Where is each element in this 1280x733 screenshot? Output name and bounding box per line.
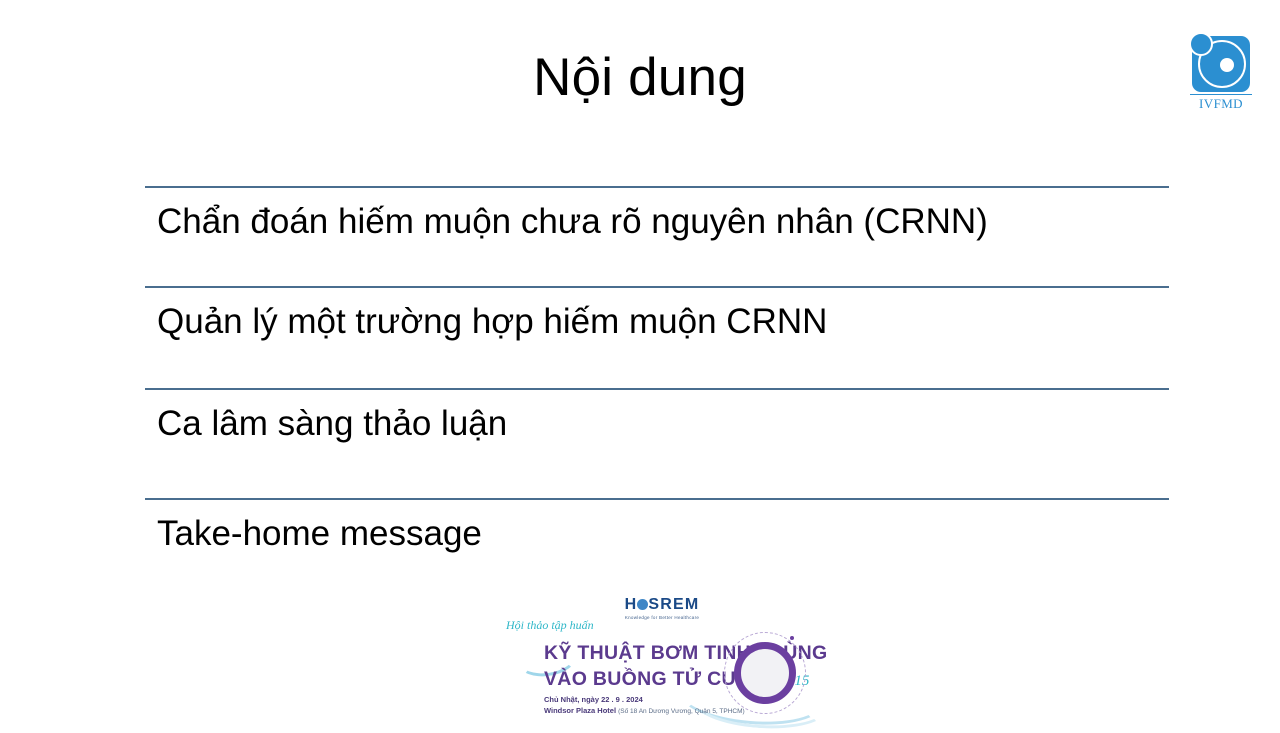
banner-kicker: Hội thảo tập huấn bbox=[506, 618, 594, 633]
agenda-list: Chẩn đoán hiếm muộn chưa rõ nguyên nhân … bbox=[145, 186, 1169, 572]
hosrem-wordmark: HSREM bbox=[602, 597, 722, 613]
ivfmd-logo: IVFMD bbox=[1188, 36, 1254, 112]
agenda-row: Take-home message bbox=[145, 498, 1169, 572]
agenda-row: Quản lý một trường hợp hiếm muộn CRNN bbox=[145, 286, 1169, 388]
ivfmd-small-circle-icon bbox=[1189, 32, 1213, 56]
event-banner: HSREM Knowledge for Better Healthcare Hộ… bbox=[466, 592, 846, 720]
ivfmd-wordmark: IVFMD bbox=[1188, 96, 1254, 112]
banner-venue: Windsor Plaza Hotel (Số 18 An Dương Vươn… bbox=[544, 706, 745, 715]
agenda-item-label: Chẩn đoán hiếm muộn chưa rõ nguyên nhân … bbox=[157, 200, 988, 244]
banner-date: Chủ Nhật, ngày 22 . 9 . 2024 bbox=[544, 695, 643, 704]
hosrem-globe-icon bbox=[637, 599, 648, 610]
banner-venue-name: Windsor Plaza Hotel bbox=[544, 706, 616, 715]
banner-ring-dot-icon bbox=[790, 636, 794, 640]
ivfmd-mark-icon bbox=[1192, 36, 1250, 92]
banner-venue-address: (Số 18 An Dương Vương, Quận 5, TPHCM) bbox=[618, 708, 745, 715]
ivfmd-divider bbox=[1190, 94, 1252, 95]
hosrem-tagline: Knowledge for Better Healthcare bbox=[602, 615, 722, 620]
agenda-item-label: Take-home message bbox=[157, 512, 482, 556]
hosrem-logo: HSREM Knowledge for Better Healthcare bbox=[602, 597, 722, 620]
agenda-row: Ca lâm sàng thảo luận bbox=[145, 388, 1169, 498]
agenda-item-label: Quản lý một trường hợp hiếm muộn CRNN bbox=[157, 300, 827, 344]
agenda-row: Chẩn đoán hiếm muộn chưa rõ nguyên nhân … bbox=[145, 186, 1169, 286]
banner-inner-ring-icon bbox=[734, 642, 796, 704]
agenda-item-label: Ca lâm sàng thảo luận bbox=[157, 402, 507, 446]
page-title: Nội dung bbox=[0, 47, 1280, 110]
ivfmd-center-dot-icon bbox=[1220, 58, 1234, 72]
